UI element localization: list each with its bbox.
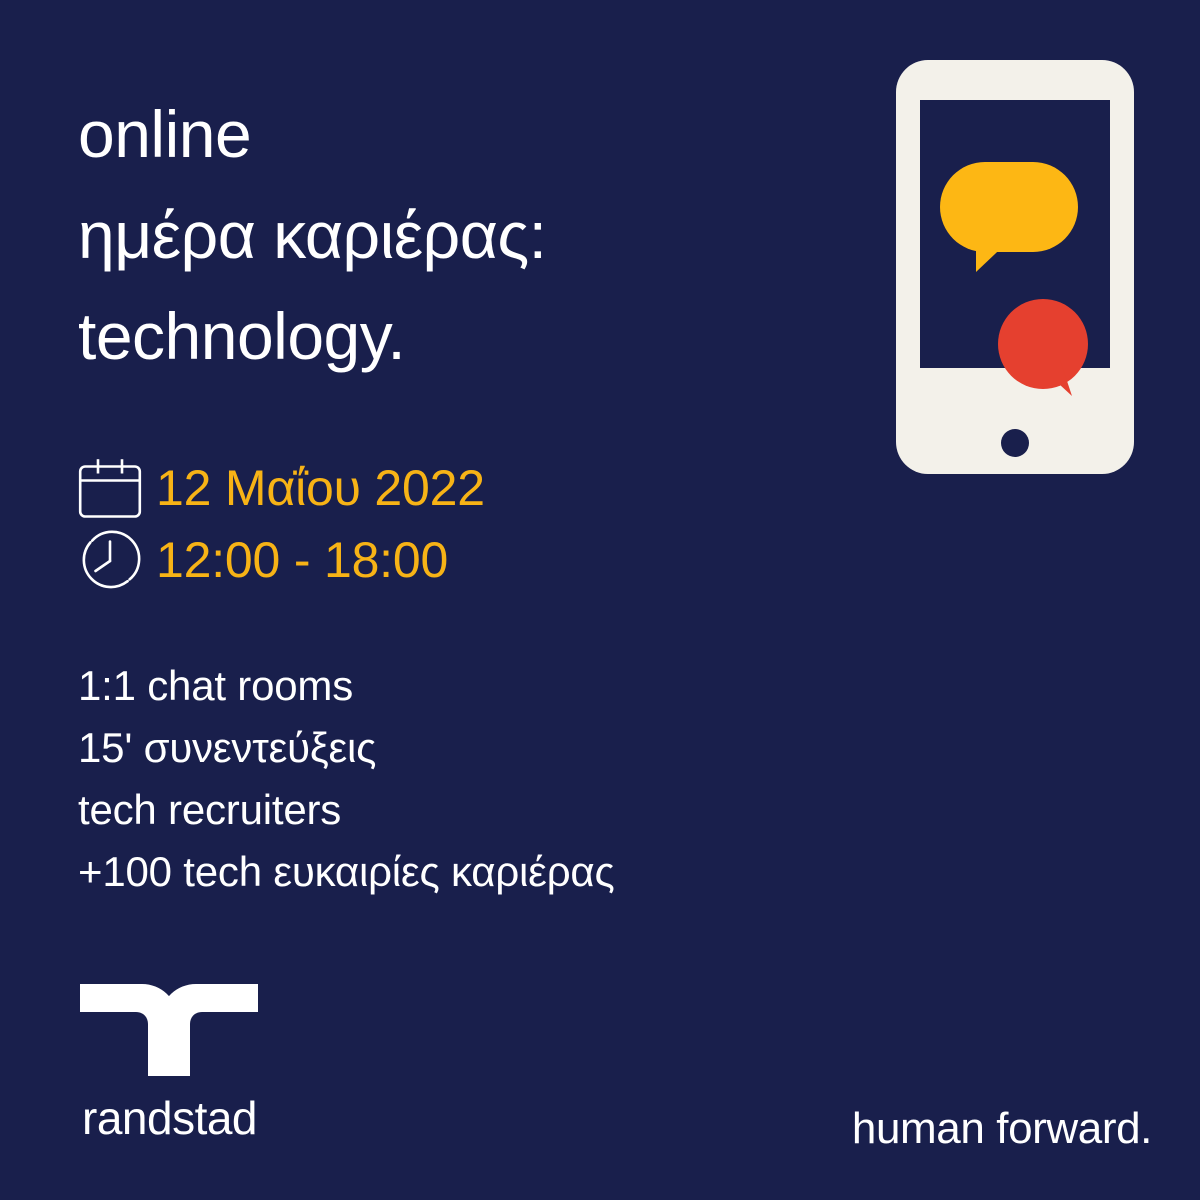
event-time-row: 12:00 - 18:00 — [78, 524, 485, 596]
smartphone-chat-illustration — [896, 60, 1134, 474]
randstad-logo — [80, 984, 258, 1081]
brand-block: randstad — [80, 984, 258, 1143]
feature-item-3: tech recruiters — [78, 779, 615, 841]
home-button — [1001, 429, 1029, 457]
clock-icon — [78, 528, 156, 592]
feature-item-2: 15' συνεντεύξεις — [78, 717, 615, 779]
event-time-value: 12:00 - 18:00 — [156, 535, 448, 585]
page-title: online ημέρα καριέρας: technology. — [78, 84, 547, 387]
headline-line-1: online — [78, 84, 547, 185]
tagline: human forward. — [852, 1104, 1152, 1154]
headline-line-2: ημέρα καριέρας: — [78, 185, 547, 286]
feature-list: 1:1 chat rooms 15' συνεντεύξεις tech rec… — [78, 655, 615, 903]
event-date-row: 12 Μαΐου 2022 — [78, 452, 485, 524]
event-details: 12 Μαΐου 2022 12:00 - 18:00 — [78, 452, 485, 596]
feature-item-1: 1:1 chat rooms — [78, 655, 615, 717]
poster-canvas: online ημέρα καριέρας: technology. 12 Μα… — [0, 0, 1200, 1200]
feature-item-4: +100 tech ευκαιρίες καριέρας — [78, 841, 615, 903]
headline-line-3: technology. — [78, 286, 547, 387]
calendar-icon — [78, 457, 156, 519]
randstad-wordmark: randstad — [82, 1093, 258, 1143]
event-date-value: 12 Μαΐου 2022 — [156, 463, 485, 513]
